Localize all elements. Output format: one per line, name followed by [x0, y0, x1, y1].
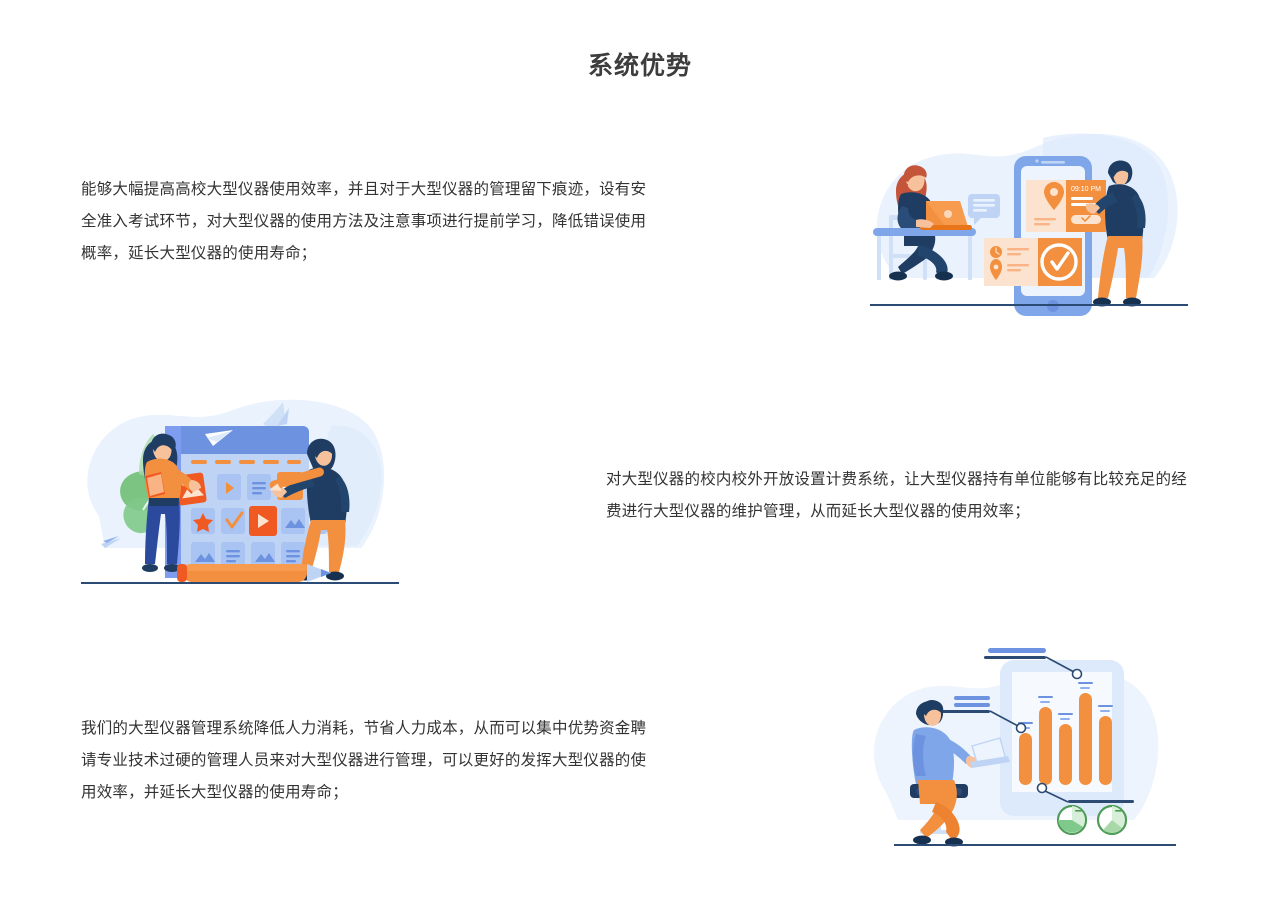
bar-2 [1039, 707, 1052, 785]
advantage-2-text: 对大型仪器的校内校外开放设置计费系统，让大型仪器持有单位能够有比较充足的经费进行… [606, 464, 1188, 528]
large-pencil [177, 564, 331, 582]
ground-line [870, 304, 1188, 306]
analytics-tablet [1000, 660, 1124, 816]
ground-line [81, 582, 399, 584]
pie-badge-1 [1058, 806, 1086, 834]
checklist-calendar-illustration [81, 396, 399, 592]
bar-5 [1099, 716, 1112, 785]
bar-3 [1059, 724, 1072, 785]
notification-time-label: 09:10 PM [1071, 186, 1101, 193]
advantage-1-text: 能够大幅提高高校大型仪器使用效率，并且对于大型仪器的管理留下痕迹，设有安全准入考… [81, 174, 661, 270]
bar-1 [1019, 733, 1032, 785]
mobile-notification-illustration: 09:10 PM [868, 128, 1190, 330]
notification-card-bottom [984, 238, 1082, 286]
ground-line [894, 844, 1176, 846]
advantage-3-text: 我们的大型仪器管理系统降低人力消耗，节省人力成本，从而可以集中优势资金聘请专业技… [81, 713, 659, 809]
pie-badge-2 [1098, 806, 1126, 834]
data-analytics-illustration [872, 642, 1176, 854]
page-title: 系统优势 [0, 46, 1280, 82]
bar-4 [1079, 693, 1092, 785]
advantages-page: 系统优势 能够大幅提高高校大型仪器使用效率，并且对于大型仪器的管理留下痕迹，设有… [0, 0, 1280, 900]
